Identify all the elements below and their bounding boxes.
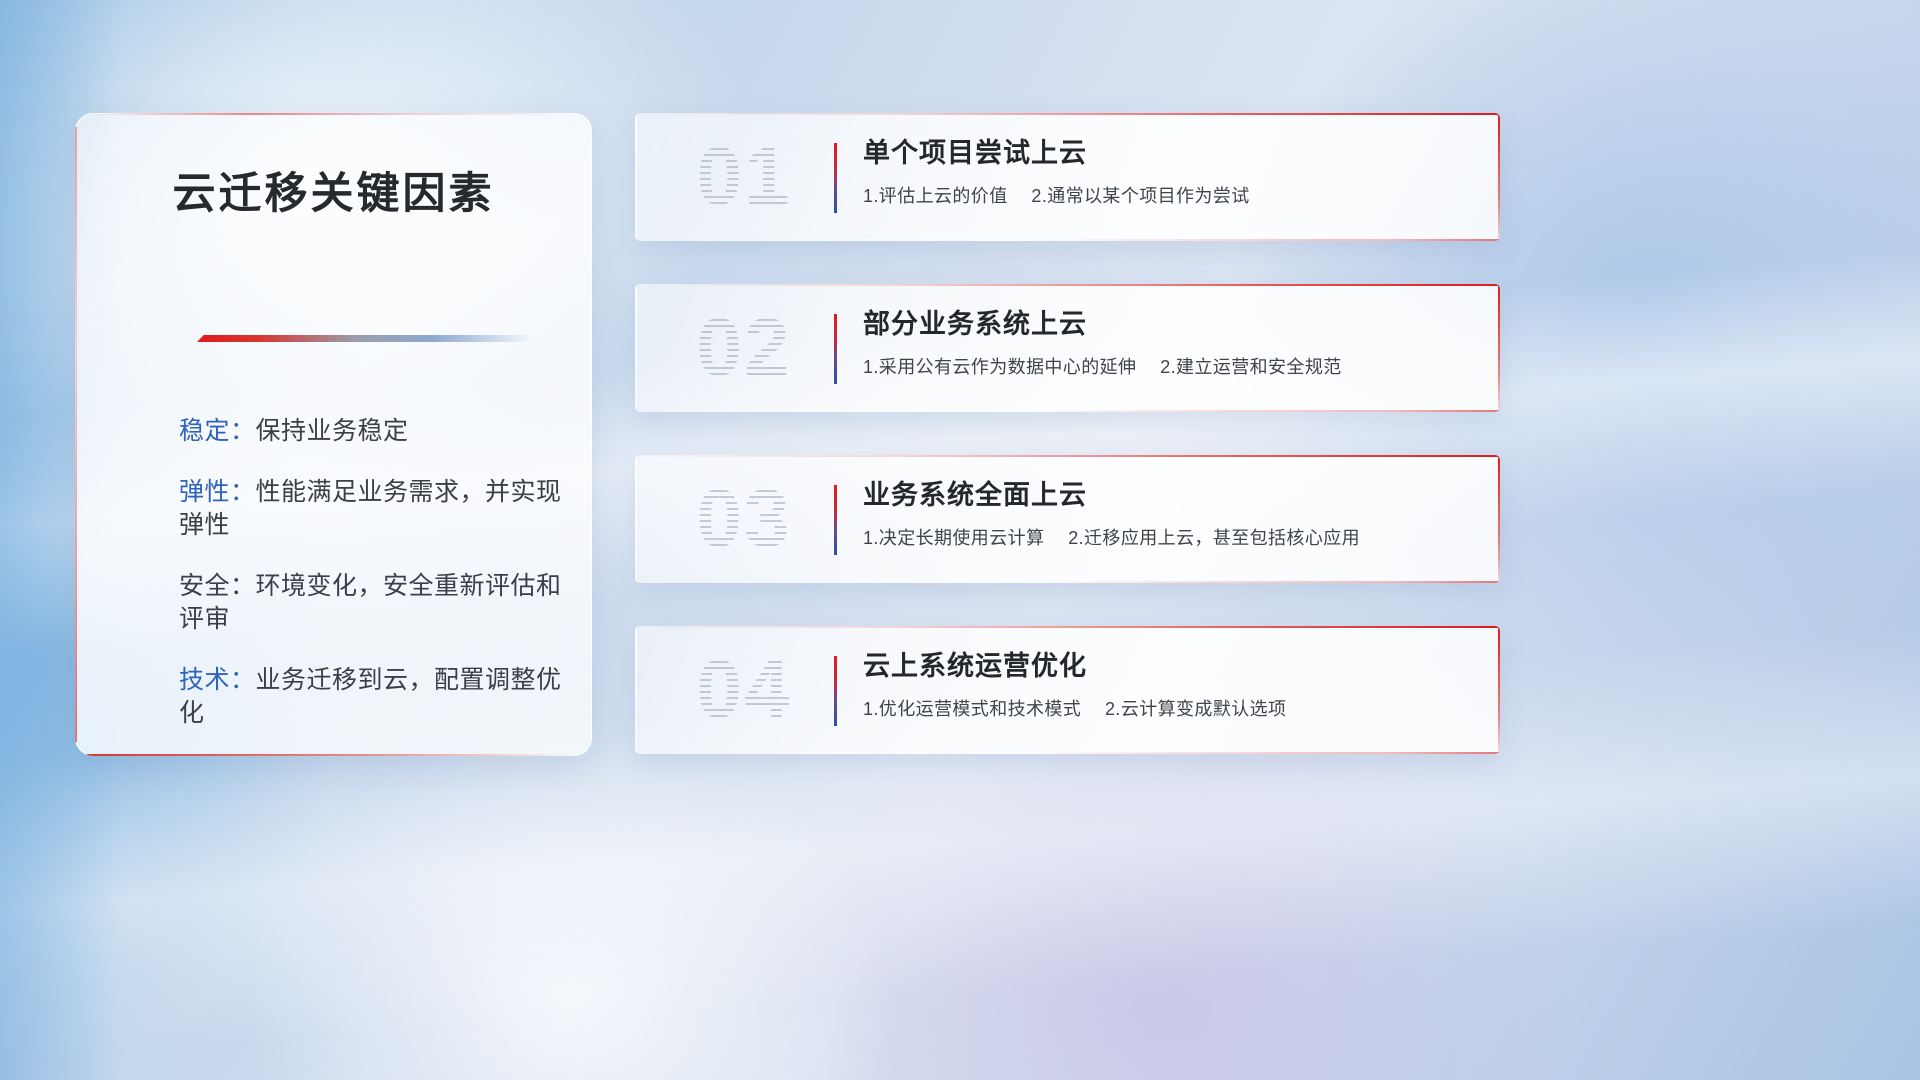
card-edge-top	[635, 284, 1500, 286]
step-title: 业务系统全面上云	[863, 479, 1472, 513]
step-number-text: 03	[696, 472, 791, 566]
step-content: 部分业务系统上云 1.采用公有云作为数据中心的延伸 2.建立运营和安全规范	[863, 308, 1472, 379]
list-item: 技术：业务迁移到云，配置调整优化	[179, 664, 566, 730]
step-title: 单个项目尝试上云	[863, 137, 1472, 171]
step-divider-bar	[834, 143, 837, 213]
step-description: 1.优化运营模式和技术模式 2.云计算变成默认选项	[863, 695, 1472, 721]
list-item: 弹性：性能满足业务需求，并实现弹性	[179, 476, 566, 542]
list-item-text: 保持业务稳定	[256, 417, 409, 445]
step-description: 1.评估上云的价值 2.通常以某个项目作为尝试	[863, 182, 1472, 208]
card-edge-bottom	[635, 752, 1500, 754]
card-edge-left	[635, 626, 637, 754]
step-content: 业务系统全面上云 1.决定长期使用云计算 2.迁移应用上云，甚至包括核心应用	[863, 479, 1472, 550]
step-divider-bar	[834, 656, 837, 726]
card-edge-left	[635, 455, 637, 583]
key-factors-list: 稳定：保持业务稳定 弹性：性能满足业务需求，并实现弹性 安全：环境变化，安全重新…	[179, 415, 566, 756]
card-edge-right	[1498, 455, 1500, 583]
step-number-text: 04	[696, 643, 791, 737]
key-factors-panel: 云迁移关键因素 稳定：保持业务稳定 弹性：性能满足业务需求，并实现弹性 安全：环…	[75, 113, 592, 756]
card-edge-bottom	[635, 239, 1500, 241]
step-divider-bar	[834, 314, 837, 384]
list-item-label: 稳定：	[179, 417, 256, 445]
card-edge-right	[1498, 113, 1500, 241]
card-edge-top	[635, 626, 1500, 628]
step-card[interactable]: 02 部分业务系统上云 1.采用公有云作为数据中心的延伸 2.建立运营和安全规范	[635, 284, 1500, 412]
list-item-label: 弹性：	[179, 478, 256, 506]
step-number-watermark: 03	[659, 471, 829, 567]
step-number-watermark: 01	[659, 129, 829, 225]
step-divider-bar	[834, 485, 837, 555]
migration-steps-list: 01 单个项目尝试上云 1.评估上云的价值 2.通常以某个项目作为尝试 02 部…	[635, 113, 1500, 754]
card-edge-bottom	[635, 581, 1500, 583]
card-edge-left	[635, 113, 637, 241]
card-edge-right	[1498, 284, 1500, 412]
page-title: 云迁移关键因素	[75, 159, 592, 221]
title-underline-gradient	[197, 335, 533, 342]
card-edge-left	[635, 284, 637, 412]
list-item-label: 安全：	[179, 572, 256, 600]
list-item-label: 技术：	[179, 666, 256, 694]
card-edge-top	[635, 455, 1500, 457]
step-card[interactable]: 04 云上系统运营优化 1.优化运营模式和技术模式 2.云计算变成默认选项	[635, 626, 1500, 754]
step-title: 云上系统运营优化	[863, 650, 1472, 684]
step-card[interactable]: 03 业务系统全面上云 1.决定长期使用云计算 2.迁移应用上云，甚至包括核心应…	[635, 455, 1500, 583]
card-edge-top	[635, 113, 1500, 115]
step-description: 1.决定长期使用云计算 2.迁移应用上云，甚至包括核心应用	[863, 524, 1472, 550]
step-content: 云上系统运营优化 1.优化运营模式和技术模式 2.云计算变成默认选项	[863, 650, 1472, 721]
panel-edge-top	[87, 113, 580, 115]
step-number-watermark: 02	[659, 300, 829, 396]
list-item: 安全：环境变化，安全重新评估和评审	[179, 570, 566, 636]
step-description: 1.采用公有云作为数据中心的延伸 2.建立运营和安全规范	[863, 353, 1472, 379]
card-edge-right	[1498, 626, 1500, 754]
step-content: 单个项目尝试上云 1.评估上云的价值 2.通常以某个项目作为尝试	[863, 137, 1472, 208]
card-edge-bottom	[635, 410, 1500, 412]
step-number-watermark: 04	[659, 642, 829, 738]
step-card[interactable]: 01 单个项目尝试上云 1.评估上云的价值 2.通常以某个项目作为尝试	[635, 113, 1500, 241]
step-number-text: 01	[696, 130, 791, 224]
list-item: 稳定：保持业务稳定	[179, 415, 566, 448]
step-title: 部分业务系统上云	[863, 308, 1472, 342]
step-number-text: 02	[696, 301, 791, 395]
